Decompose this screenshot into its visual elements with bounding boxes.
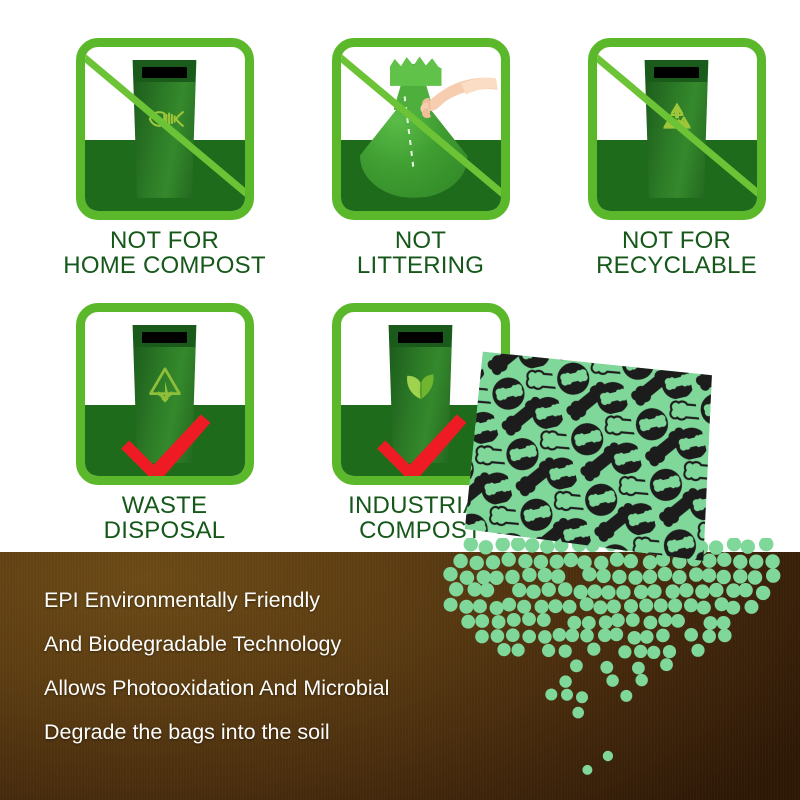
icon-card-not-littering: NOT LITTERING <box>298 38 543 279</box>
waste-disposal-arrow-icon <box>143 362 187 406</box>
icon-frame <box>332 38 510 220</box>
soil-text-line: Degrade the bags into the soil <box>44 710 389 754</box>
soil-text-block: EPI Environmentally Friendly And Biodegr… <box>44 578 389 754</box>
bin-slot <box>142 332 188 343</box>
infographic-root: NOT FOR HOME COMPOST <box>0 0 800 800</box>
leaf-icon <box>399 362 443 406</box>
icon-card-not-for-home-compost: NOT FOR HOME COMPOST <box>42 38 287 279</box>
icon-card-not-for-recyclable: NOT FOR RECYCLABLE <box>554 38 799 279</box>
bone-paw-pattern <box>437 312 740 597</box>
bin-slot <box>398 332 444 343</box>
icon-caption: NOT FOR RECYCLABLE <box>554 229 799 279</box>
icon-frame <box>76 38 254 220</box>
soil-text-line: EPI Environmentally Friendly <box>44 578 389 622</box>
bag-warning-microtext: WARNING <box>521 570 543 577</box>
soil-panel: EPI Environmentally Friendly And Biodegr… <box>0 552 800 800</box>
icon-caption: NOT FOR HOME COMPOST <box>42 229 287 279</box>
icon-frame <box>76 303 254 485</box>
approved-check-icon <box>116 408 214 485</box>
soil-text-line: Allows Photooxidation And Microbial <box>44 666 389 710</box>
icon-frame <box>588 38 766 220</box>
icon-caption: NOT LITTERING <box>298 229 543 279</box>
icon-card-waste-disposal: WASTE DISPOSAL <box>42 303 287 544</box>
bin-slot <box>654 67 700 78</box>
soil-text-line: And Biodegradable Technology <box>44 622 389 666</box>
bin-slot <box>142 67 188 78</box>
dog-waste-bag-sheet: WARNING <box>437 312 740 597</box>
icon-caption: WASTE DISPOSAL <box>42 494 287 544</box>
